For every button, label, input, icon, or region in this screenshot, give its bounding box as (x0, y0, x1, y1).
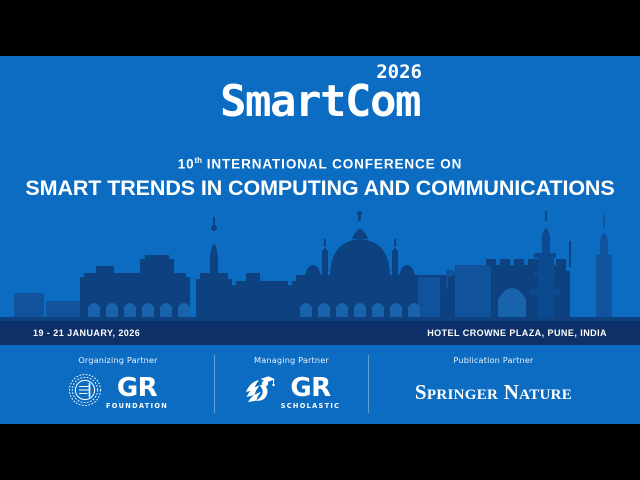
springer-nature-wordmark: Springer Nature (369, 369, 618, 415)
logo-wordmark: SmartCom 2026 (220, 80, 420, 124)
smartcom-logo: SmartCom 2026 (0, 80, 640, 124)
conference-poster: SmartCom 2026 10th INTERNATIONAL CONFERE… (0, 0, 640, 480)
gr-subtitle: SCHOLASTIC (281, 403, 341, 410)
partner-label: Managing Partner (215, 355, 368, 365)
partner-managing: Managing Partner (215, 345, 368, 415)
page-title: SMART TRENDS IN COMPUTING AND COMMUNICAT… (0, 176, 640, 201)
partner-label: Organizing Partner (22, 355, 214, 365)
edition-rest: INTERNATIONAL CONFERENCE ON (202, 157, 462, 172)
edition-suffix: th (195, 156, 203, 165)
info-band: 19 - 21 JANUARY, 2026 HOTEL CROWNE PLAZA… (0, 321, 640, 345)
partner-organizing: Organizing Partner (22, 345, 214, 415)
radial-burst-circle-icon (68, 373, 102, 412)
partners-section: Organizing Partner (0, 345, 640, 424)
gr-subtitle: FOUNDATION (106, 403, 168, 410)
conference-edition-line: 10th INTERNATIONAL CONFERENCE ON (0, 156, 640, 172)
gr-scholastic-wordmark: GR SCHOLASTIC (281, 375, 341, 410)
letterbox-top (0, 0, 640, 56)
logo-year: 2026 (376, 63, 422, 82)
partner-publication: Publication Partner Springer Nature (369, 345, 618, 415)
gr-foundation-wordmark: GR FOUNDATION (106, 375, 168, 410)
letterbox-bottom (0, 424, 640, 480)
gr-foundation-logo: GR FOUNDATION (22, 369, 214, 415)
conference-dates: 19 - 21 JANUARY, 2026 (33, 328, 140, 338)
gr-initials: GR (290, 375, 330, 401)
gr-scholastic-logo: GR SCHOLASTIC (215, 369, 368, 415)
gr-initials: GR (117, 375, 157, 401)
partner-label: Publication Partner (369, 355, 618, 365)
logo-wordmark-text: SmartCom (220, 76, 420, 127)
edition-number: 10 (178, 157, 195, 172)
city-skyline-illustration (0, 211, 640, 321)
conference-venue: HOTEL CROWNE PLAZA, PUNE, INDIA (427, 328, 607, 338)
graduate-swirl-icon (243, 373, 277, 412)
poster-stage: SmartCom 2026 10th INTERNATIONAL CONFERE… (0, 56, 640, 424)
